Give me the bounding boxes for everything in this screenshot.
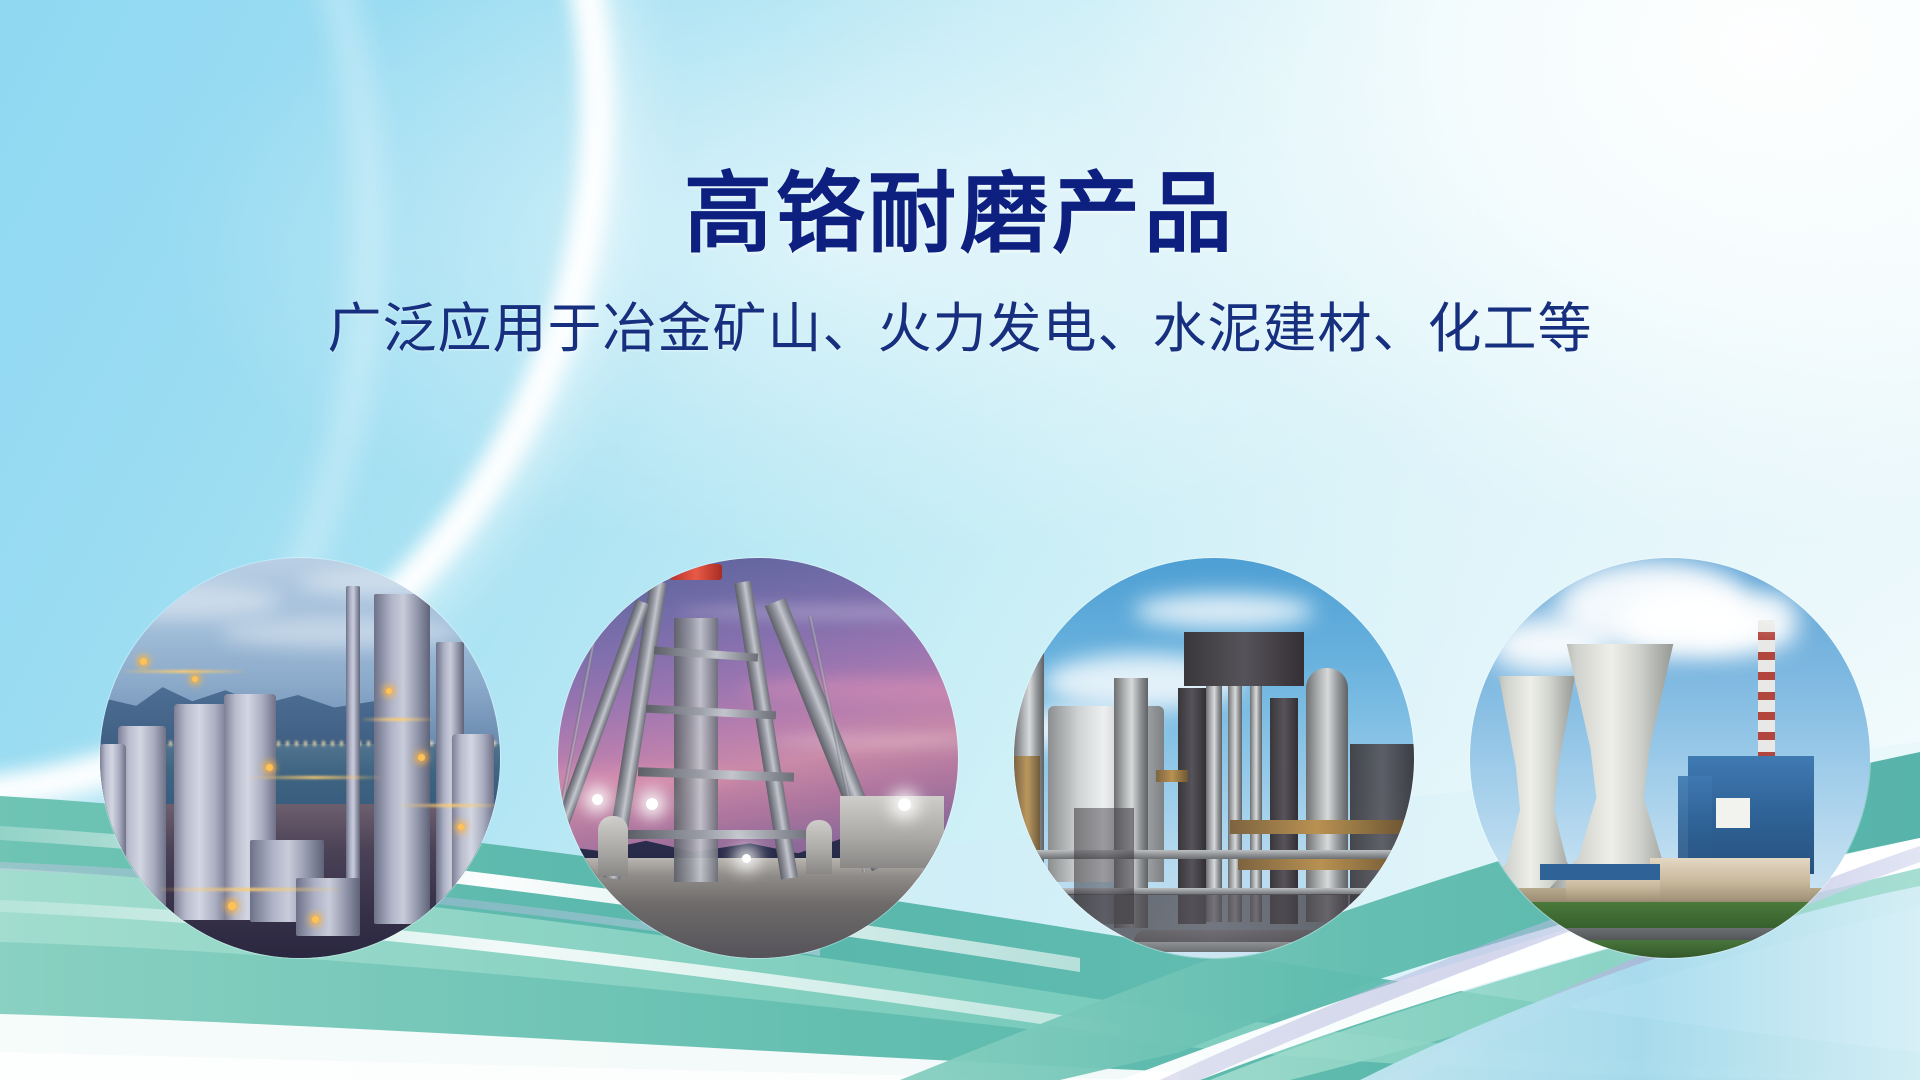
mine-building xyxy=(840,796,944,868)
reactor-frame xyxy=(1184,632,1304,686)
plant-lights xyxy=(400,804,500,807)
beacon-light-icon xyxy=(670,564,722,580)
storage-tank xyxy=(598,816,628,876)
plant-lights xyxy=(124,670,244,673)
chimney-stack xyxy=(346,586,360,924)
pipe-rack xyxy=(1230,820,1404,834)
plant-lights xyxy=(160,888,340,891)
lower-plant-clutter xyxy=(1074,808,1134,924)
distillation-column xyxy=(1306,668,1348,922)
chemical-plant-photo xyxy=(1014,558,1414,958)
riser-pipe xyxy=(1228,662,1242,922)
mine-headframe-scene xyxy=(558,558,958,958)
lamp-icon xyxy=(266,764,273,771)
storage-tank xyxy=(806,820,832,874)
floodlight-icon xyxy=(898,798,911,811)
floodlight-icon xyxy=(592,794,603,805)
control-building xyxy=(1716,798,1750,828)
floodlight-icon xyxy=(742,854,751,863)
lamp-icon xyxy=(140,658,147,665)
cloud-icon xyxy=(300,568,500,596)
cloud-streak xyxy=(678,604,958,620)
chemical-plant-scene xyxy=(1014,558,1414,958)
lamp-icon xyxy=(228,902,236,910)
lamp-icon xyxy=(386,688,392,694)
cement-silo xyxy=(100,744,126,924)
banner-text-block: 高铬耐磨产品 广泛应用于冶金矿山、火力发电、水泥建材、化工等 xyxy=(0,0,1920,356)
plant-building xyxy=(296,878,360,936)
lamp-icon xyxy=(418,754,425,761)
industry-photo-row xyxy=(0,558,1920,960)
pipe-rack xyxy=(1156,770,1188,782)
mine-headframe-photo xyxy=(558,558,958,958)
plant-building xyxy=(1650,858,1810,900)
lamp-icon xyxy=(458,824,464,830)
cement-plant-scene xyxy=(100,558,500,958)
power-plant-photo xyxy=(1470,558,1870,958)
steam-plume xyxy=(1752,596,1792,622)
headframe-crossbeam xyxy=(628,830,812,839)
page-subtitle: 广泛应用于冶金矿山、火力发电、水泥建材、化工等 xyxy=(0,258,1920,356)
cloud-icon xyxy=(1134,594,1314,628)
plant-lights xyxy=(250,776,380,779)
lamp-icon xyxy=(312,916,319,923)
plant-building xyxy=(1540,864,1660,880)
treeline xyxy=(1470,940,1870,958)
power-plant-scene xyxy=(1470,558,1870,958)
floodlight-icon xyxy=(646,798,658,810)
riser-pipe xyxy=(1206,666,1222,922)
cement-plant-photo xyxy=(100,558,500,958)
lamp-icon xyxy=(192,676,198,682)
plant-lights xyxy=(362,718,432,721)
page-title: 高铬耐磨产品 xyxy=(0,0,1920,258)
product-banner: 高铬耐磨产品 广泛应用于冶金矿山、火力发电、水泥建材、化工等 xyxy=(0,0,1920,1080)
riser-pipe xyxy=(1250,670,1262,922)
pipe-rack xyxy=(1238,858,1404,870)
